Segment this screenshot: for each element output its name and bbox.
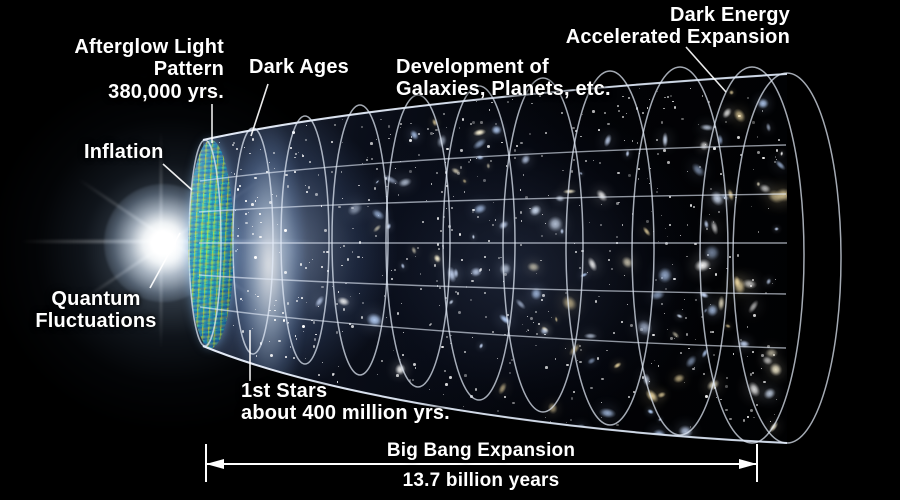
star — [652, 334, 654, 336]
star — [252, 226, 253, 227]
star — [705, 395, 708, 398]
star — [565, 348, 566, 349]
star — [710, 188, 712, 190]
star — [295, 335, 296, 336]
star — [418, 154, 419, 155]
star — [321, 286, 324, 289]
star — [445, 297, 447, 299]
star — [609, 250, 611, 252]
star — [390, 134, 391, 135]
star — [531, 103, 533, 105]
star — [343, 308, 346, 311]
star — [647, 107, 649, 109]
star — [753, 314, 756, 317]
star — [723, 175, 724, 176]
star — [301, 297, 303, 299]
star — [613, 332, 615, 334]
star — [601, 417, 602, 418]
star — [468, 161, 470, 163]
star — [324, 229, 327, 232]
star — [618, 110, 620, 112]
star — [302, 325, 305, 328]
star — [340, 247, 341, 248]
star — [590, 387, 592, 389]
star — [661, 215, 662, 216]
star — [441, 346, 443, 348]
star — [245, 222, 248, 225]
star — [617, 105, 619, 107]
star — [357, 256, 360, 259]
star — [331, 171, 333, 173]
star — [318, 374, 320, 376]
star — [775, 279, 776, 280]
star — [472, 337, 473, 338]
star — [460, 149, 462, 151]
star — [475, 388, 477, 390]
star — [449, 376, 452, 379]
star — [287, 185, 289, 187]
star — [713, 354, 715, 356]
star — [768, 208, 769, 209]
star — [716, 397, 717, 398]
star — [577, 360, 578, 361]
star — [753, 417, 755, 419]
star — [464, 191, 465, 192]
star — [485, 316, 487, 318]
star — [646, 220, 648, 222]
star — [726, 268, 728, 270]
star — [622, 116, 624, 118]
star — [298, 297, 299, 298]
star — [772, 283, 773, 284]
star — [708, 101, 710, 103]
star — [632, 213, 634, 215]
star — [501, 142, 503, 144]
star — [487, 145, 490, 148]
galaxy — [471, 235, 475, 240]
star — [664, 313, 665, 314]
star — [507, 101, 509, 103]
star — [626, 113, 627, 114]
star — [694, 367, 695, 368]
galaxy — [490, 124, 502, 135]
star — [542, 294, 545, 297]
star — [649, 99, 650, 100]
star — [680, 235, 681, 236]
star — [292, 131, 295, 134]
star — [458, 311, 461, 314]
star — [639, 88, 640, 89]
star — [342, 198, 343, 199]
star — [657, 153, 659, 155]
star — [489, 109, 491, 111]
star — [326, 251, 328, 253]
star — [448, 225, 451, 228]
label-dark-ages: Dark Ages — [249, 56, 349, 78]
star — [269, 341, 270, 342]
star — [420, 273, 422, 275]
star — [673, 278, 675, 280]
star — [656, 191, 658, 193]
star — [571, 397, 574, 400]
star — [480, 121, 483, 124]
star — [506, 165, 508, 167]
star — [400, 127, 401, 128]
star — [255, 200, 256, 201]
star — [656, 139, 658, 141]
star — [279, 252, 280, 253]
galaxy — [729, 90, 735, 95]
star — [451, 207, 453, 209]
star — [693, 206, 695, 208]
star — [778, 139, 780, 141]
star — [483, 179, 486, 182]
star — [737, 136, 740, 139]
star — [601, 378, 603, 380]
star — [743, 419, 745, 421]
star — [362, 302, 364, 304]
star — [242, 300, 243, 301]
star — [441, 191, 443, 193]
star — [351, 325, 354, 328]
star — [332, 373, 335, 376]
star — [450, 335, 451, 336]
star — [236, 148, 238, 150]
star — [545, 366, 548, 369]
star — [306, 125, 307, 126]
star — [347, 258, 350, 261]
star — [536, 333, 538, 335]
star — [448, 158, 450, 160]
star — [667, 96, 669, 98]
star — [681, 118, 684, 121]
star — [572, 127, 575, 130]
star — [712, 331, 714, 333]
star — [235, 250, 237, 252]
star — [436, 172, 438, 174]
star — [368, 199, 370, 201]
star — [259, 213, 261, 215]
star — [692, 368, 694, 370]
star — [695, 299, 697, 301]
star — [747, 97, 749, 99]
star — [293, 357, 295, 359]
star — [472, 121, 475, 124]
star — [255, 294, 256, 295]
star — [762, 157, 765, 160]
star — [670, 337, 672, 339]
star — [400, 123, 402, 125]
star — [362, 257, 363, 258]
star — [397, 312, 399, 314]
star — [752, 351, 754, 353]
star — [612, 84, 613, 85]
galaxy — [699, 123, 713, 131]
galaxy — [774, 227, 779, 231]
star — [571, 170, 574, 173]
star — [252, 138, 254, 140]
label-quantum-fluctuations: Quantum Fluctuations — [0, 288, 192, 333]
star — [269, 201, 272, 204]
label-big-bang-expansion: Big Bang Expansion — [205, 440, 757, 461]
star — [285, 356, 287, 358]
star — [545, 132, 547, 134]
star — [575, 130, 577, 132]
star — [522, 324, 523, 325]
star — [371, 158, 373, 160]
star — [254, 256, 257, 259]
star — [377, 374, 378, 375]
star — [555, 233, 557, 235]
star — [651, 363, 652, 364]
star — [663, 149, 666, 152]
star — [386, 196, 387, 197]
star — [446, 336, 448, 338]
star — [488, 240, 490, 242]
star — [374, 187, 377, 190]
star — [409, 170, 412, 173]
star — [664, 97, 666, 99]
star — [665, 242, 668, 245]
star — [244, 147, 246, 149]
star — [530, 317, 533, 320]
star — [367, 157, 368, 158]
star — [384, 295, 386, 297]
star — [426, 200, 427, 201]
label-development-of-galaxies: Development of Galaxies, Planets, etc. — [396, 56, 611, 101]
star — [525, 196, 528, 199]
star — [290, 346, 292, 348]
star — [710, 331, 712, 333]
star — [278, 340, 280, 342]
star — [300, 263, 302, 265]
star — [579, 205, 580, 206]
star — [343, 245, 345, 247]
star — [698, 124, 699, 125]
star — [690, 204, 692, 206]
star — [470, 395, 472, 397]
star — [334, 124, 335, 125]
star — [595, 300, 598, 303]
star — [520, 244, 522, 246]
galaxy — [584, 332, 597, 338]
star — [294, 157, 296, 159]
star — [580, 349, 582, 351]
star — [747, 416, 748, 417]
star — [466, 286, 468, 288]
star — [315, 193, 318, 196]
star — [638, 168, 640, 170]
star — [757, 151, 760, 154]
star — [667, 161, 670, 164]
star — [630, 324, 633, 327]
star — [737, 254, 739, 256]
star — [274, 319, 276, 321]
star — [592, 110, 594, 112]
star — [703, 373, 705, 375]
star — [682, 309, 683, 310]
star — [622, 224, 623, 225]
label-duration-years: 13.7 billion years — [205, 470, 757, 491]
star — [729, 418, 731, 420]
star — [306, 191, 308, 193]
star — [386, 186, 388, 188]
star — [410, 123, 411, 124]
star — [600, 224, 602, 226]
star — [551, 317, 552, 318]
star — [725, 409, 727, 411]
star — [687, 224, 688, 225]
star — [313, 345, 316, 348]
galaxy — [625, 150, 629, 157]
star — [359, 241, 362, 244]
star — [439, 102, 441, 104]
star — [598, 129, 600, 131]
star — [536, 273, 537, 274]
star — [750, 373, 753, 376]
star — [245, 200, 247, 202]
star — [515, 217, 517, 219]
star — [336, 331, 339, 334]
star — [460, 166, 463, 169]
star — [548, 311, 549, 312]
star — [628, 97, 630, 99]
star — [757, 136, 759, 138]
star — [446, 185, 448, 187]
label-afterglow-light-pattern: Afterglow Light Pattern 380,000 yrs. — [0, 36, 224, 103]
star — [642, 112, 644, 114]
star — [720, 173, 722, 175]
star — [566, 422, 567, 423]
star — [249, 153, 250, 154]
cmb-disc-sheen — [188, 140, 234, 348]
star — [484, 292, 486, 294]
star — [695, 339, 696, 340]
star — [713, 147, 716, 150]
star — [570, 419, 572, 421]
star — [582, 114, 583, 115]
star — [284, 271, 287, 274]
star — [497, 410, 499, 412]
star — [420, 288, 422, 290]
star — [302, 154, 303, 155]
star — [702, 95, 703, 96]
star — [492, 224, 494, 226]
galaxy — [555, 195, 565, 203]
star — [548, 195, 549, 196]
star — [308, 186, 311, 189]
star — [309, 262, 310, 263]
star — [566, 364, 568, 366]
star — [573, 159, 575, 161]
star — [234, 173, 235, 174]
star — [332, 286, 333, 287]
star — [464, 351, 466, 353]
star — [725, 385, 728, 388]
star — [684, 382, 685, 383]
label-dark-energy: Dark Energy Accelerated Expansion — [440, 4, 790, 49]
star — [251, 203, 254, 206]
star — [715, 273, 718, 276]
star — [545, 223, 546, 224]
star — [624, 140, 625, 141]
label-inflation: Inflation — [84, 141, 164, 163]
galaxy — [756, 97, 769, 109]
star — [661, 121, 663, 123]
star — [370, 142, 373, 145]
star — [247, 290, 249, 292]
star — [463, 406, 464, 407]
star — [362, 163, 364, 165]
label-first-stars: 1st Stars about 400 million yrs. — [241, 380, 450, 425]
galaxy — [775, 188, 792, 202]
galaxy — [779, 150, 783, 156]
star — [545, 417, 546, 418]
star — [259, 236, 261, 238]
star — [538, 323, 540, 325]
galaxy — [662, 132, 669, 147]
star — [665, 228, 666, 229]
star — [776, 149, 778, 151]
star — [446, 208, 447, 209]
star — [445, 162, 446, 163]
star — [284, 229, 287, 232]
star — [242, 330, 244, 332]
star — [401, 303, 402, 304]
star — [273, 152, 275, 154]
star — [391, 278, 393, 280]
universe-timeline-figure: Afterglow Light Pattern 380,000 yrs. Dar… — [0, 0, 900, 500]
star — [680, 352, 682, 354]
star — [490, 160, 492, 162]
star — [770, 421, 771, 422]
star — [514, 157, 516, 159]
star — [541, 299, 543, 301]
star — [752, 121, 755, 124]
star — [753, 169, 754, 170]
star — [750, 409, 753, 412]
star — [628, 396, 630, 398]
star — [624, 275, 625, 276]
star — [464, 374, 467, 377]
star — [527, 329, 529, 331]
star — [520, 211, 522, 213]
star — [438, 248, 440, 250]
galaxy — [560, 228, 564, 234]
